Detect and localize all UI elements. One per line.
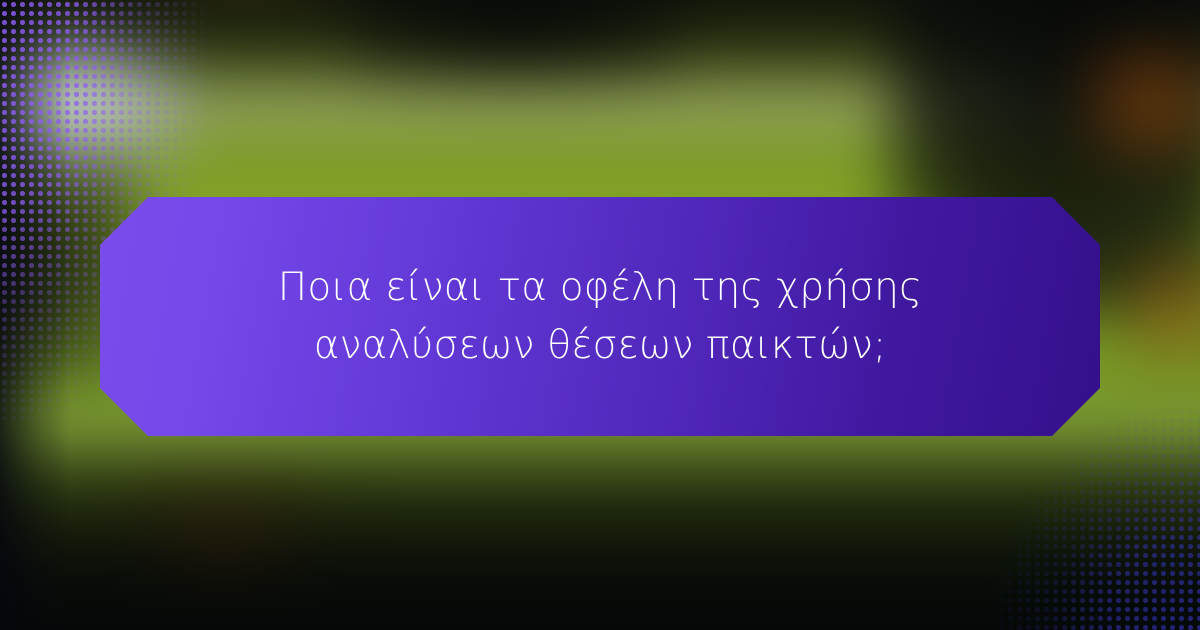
orange-light-blob-top — [1072, 34, 1200, 172]
dark-stand-blob — [346, 0, 685, 87]
question-banner: Ποια είναι τα οφέλη της χρήσης αναλύσεων… — [100, 197, 1100, 436]
orange-light-blob-mid — [1109, 246, 1200, 373]
question-text: Ποια είναι τα οφέλη της χρήσης αναλύσεων… — [186, 259, 1014, 374]
social-card: Ποια είναι τα οφέλη της χρήσης αναλύσεων… — [0, 0, 1200, 630]
bottom-vignette — [0, 448, 1200, 630]
